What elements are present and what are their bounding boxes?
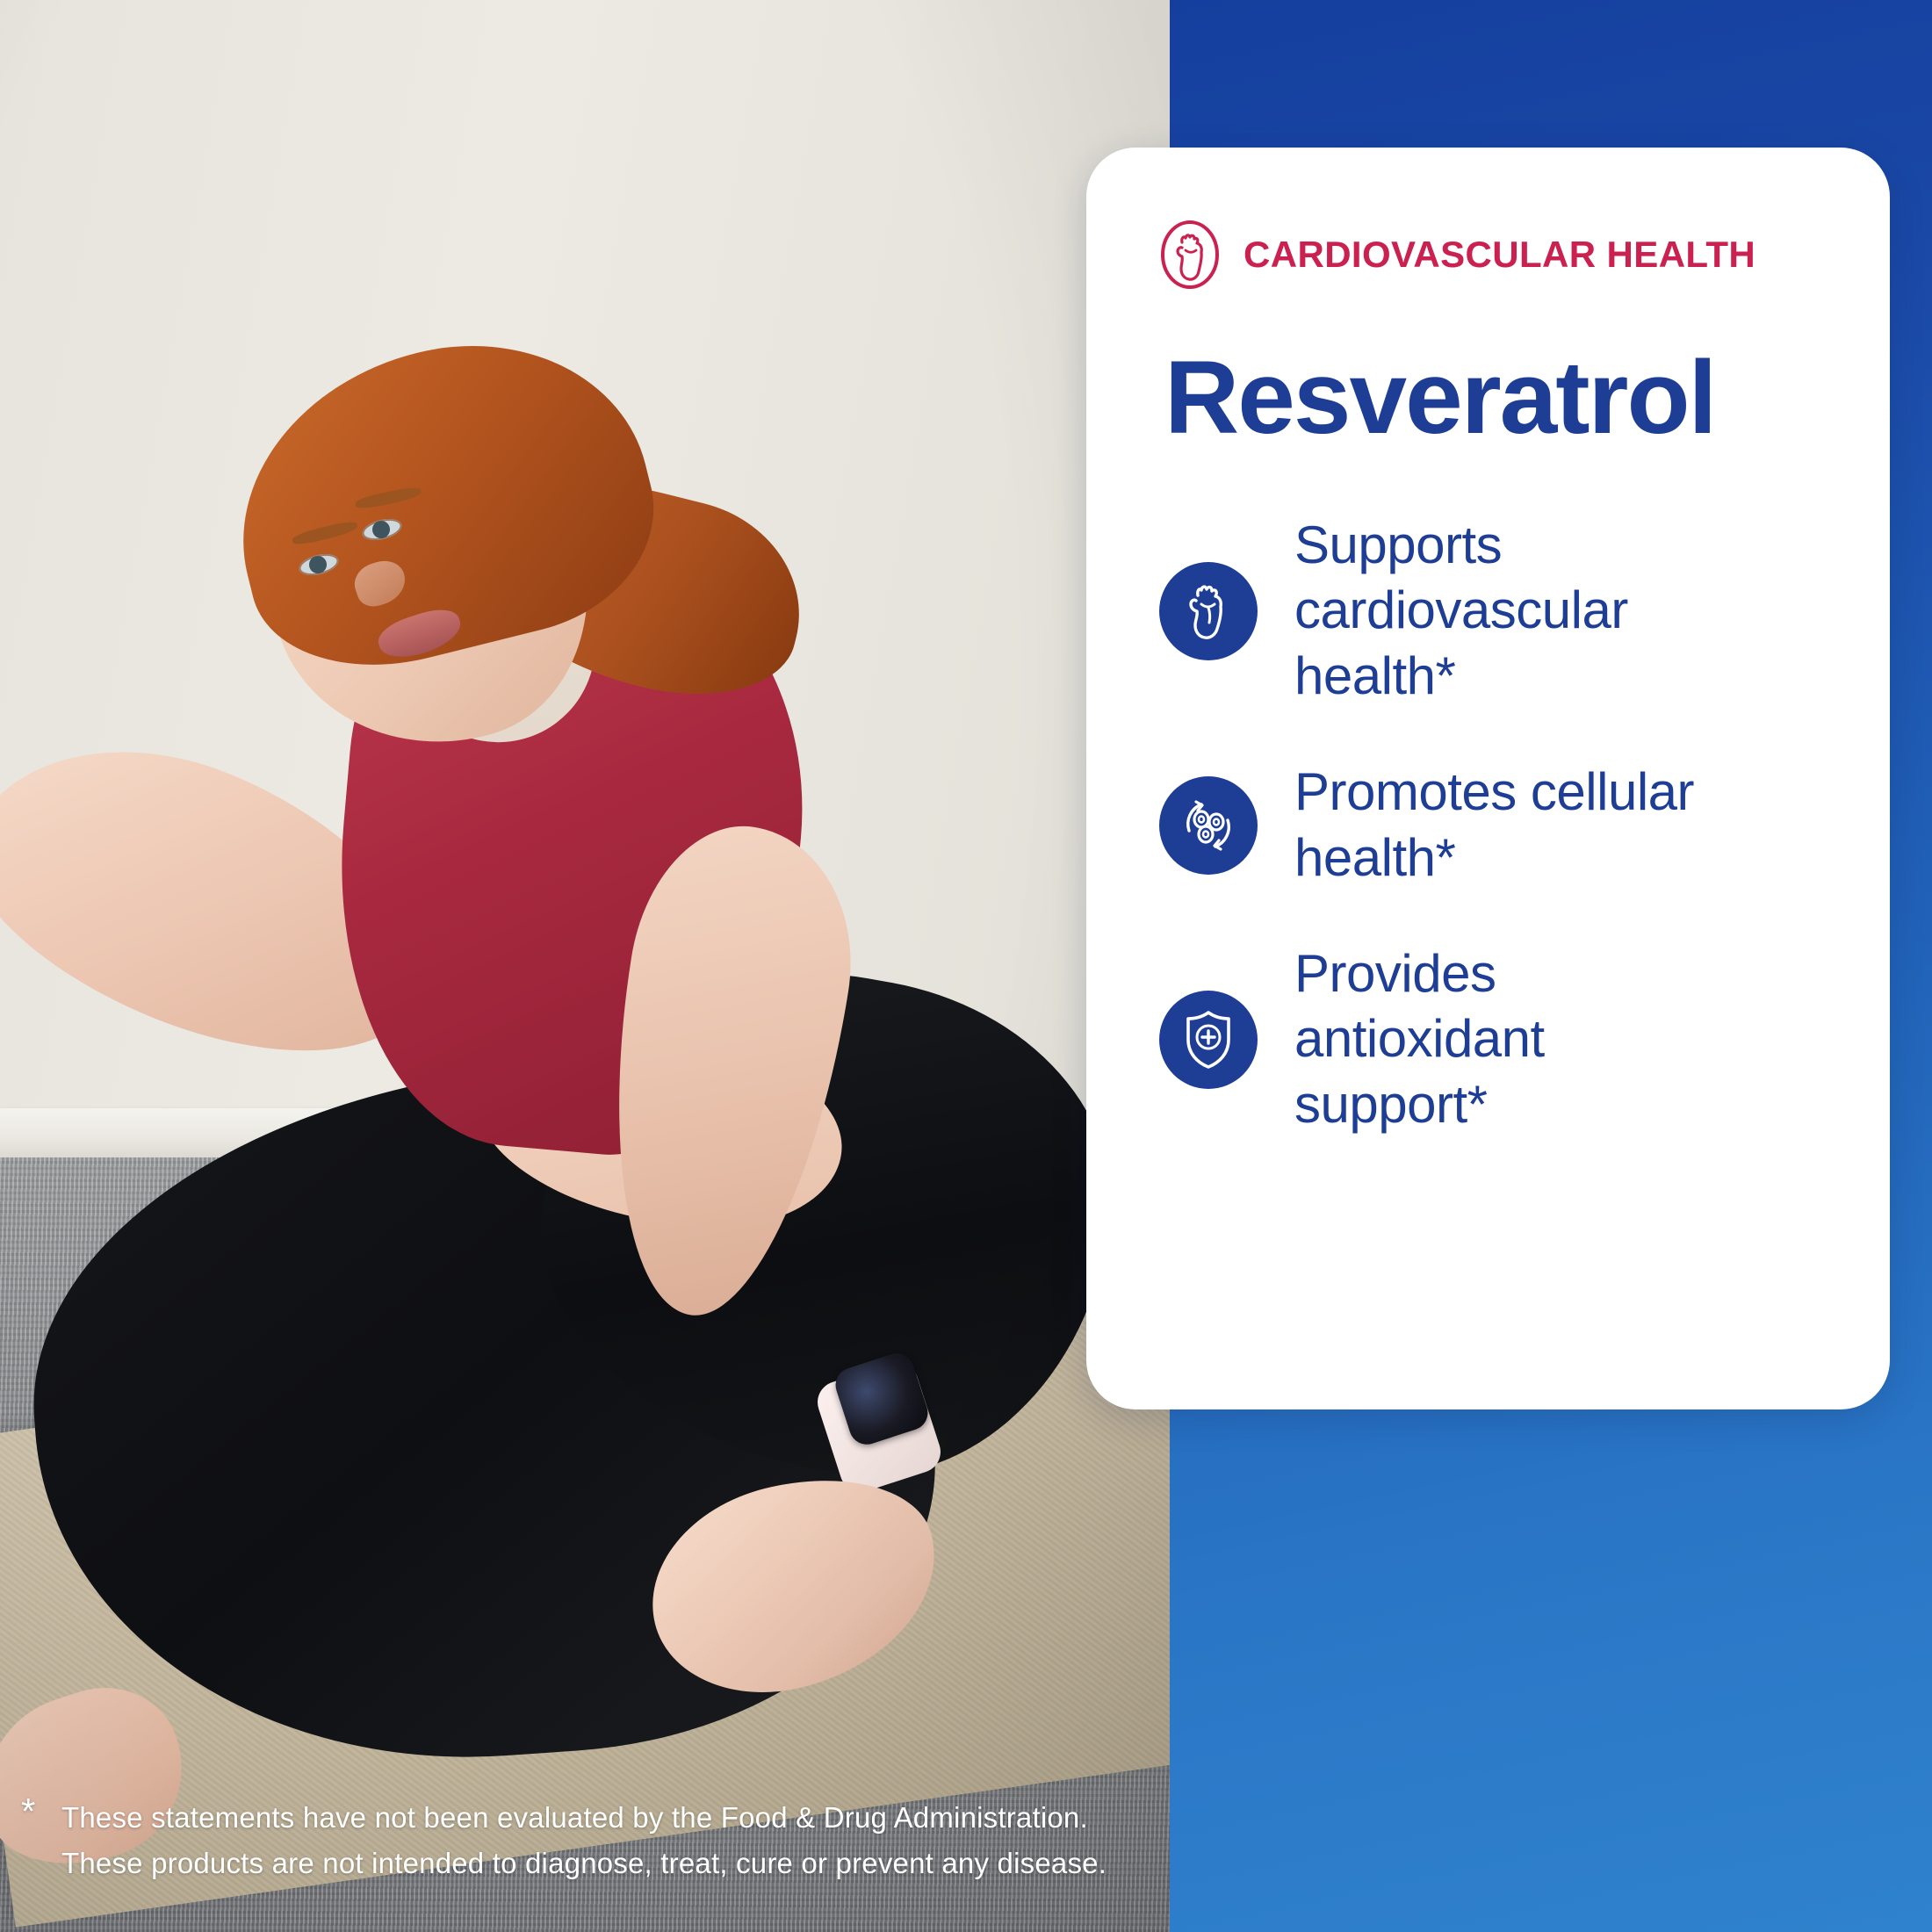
benefit-item-cardiovascular: Supports cardiovascular health* xyxy=(1159,513,1823,709)
benefit-list: Supports cardiovascular health* xyxy=(1159,513,1823,1137)
shield-plus-icon xyxy=(1159,991,1258,1089)
promo-graphic: * These statements have not been evaluat… xyxy=(0,0,1932,1932)
benefit-item-cellular: Promotes cellular health* xyxy=(1159,760,1823,890)
category-label: CARDIOVASCULAR HEALTH xyxy=(1244,234,1755,276)
photo-vignette xyxy=(0,0,1170,1932)
disclaimer-line-1: These statements have not been evaluated… xyxy=(61,1795,1163,1841)
benefit-text: Promotes cellular health* xyxy=(1294,760,1707,890)
product-title: Resveratrol xyxy=(1164,346,1823,450)
benefit-text: Supports cardiovascular health* xyxy=(1294,513,1707,709)
disclaimer-asterisk: * xyxy=(21,1793,36,1830)
benefit-item-antioxidant: Provides antioxidant support* xyxy=(1159,941,1823,1137)
fda-disclaimer: * These statements have not been evaluat… xyxy=(21,1795,1163,1886)
anatomical-heart-icon xyxy=(1159,562,1258,660)
cell-cycle-icon xyxy=(1159,776,1258,875)
product-info-card: CARDIOVASCULAR HEALTH Resveratrol Suppor… xyxy=(1086,148,1890,1409)
category-eyebrow: CARDIOVASCULAR HEALTH xyxy=(1159,220,1823,290)
lifestyle-photo xyxy=(0,0,1170,1932)
disclaimer-line-2: These products are not intended to diagn… xyxy=(61,1841,1163,1886)
benefit-text: Provides antioxidant support* xyxy=(1294,941,1707,1137)
heart-outline-circle-icon xyxy=(1159,220,1221,290)
